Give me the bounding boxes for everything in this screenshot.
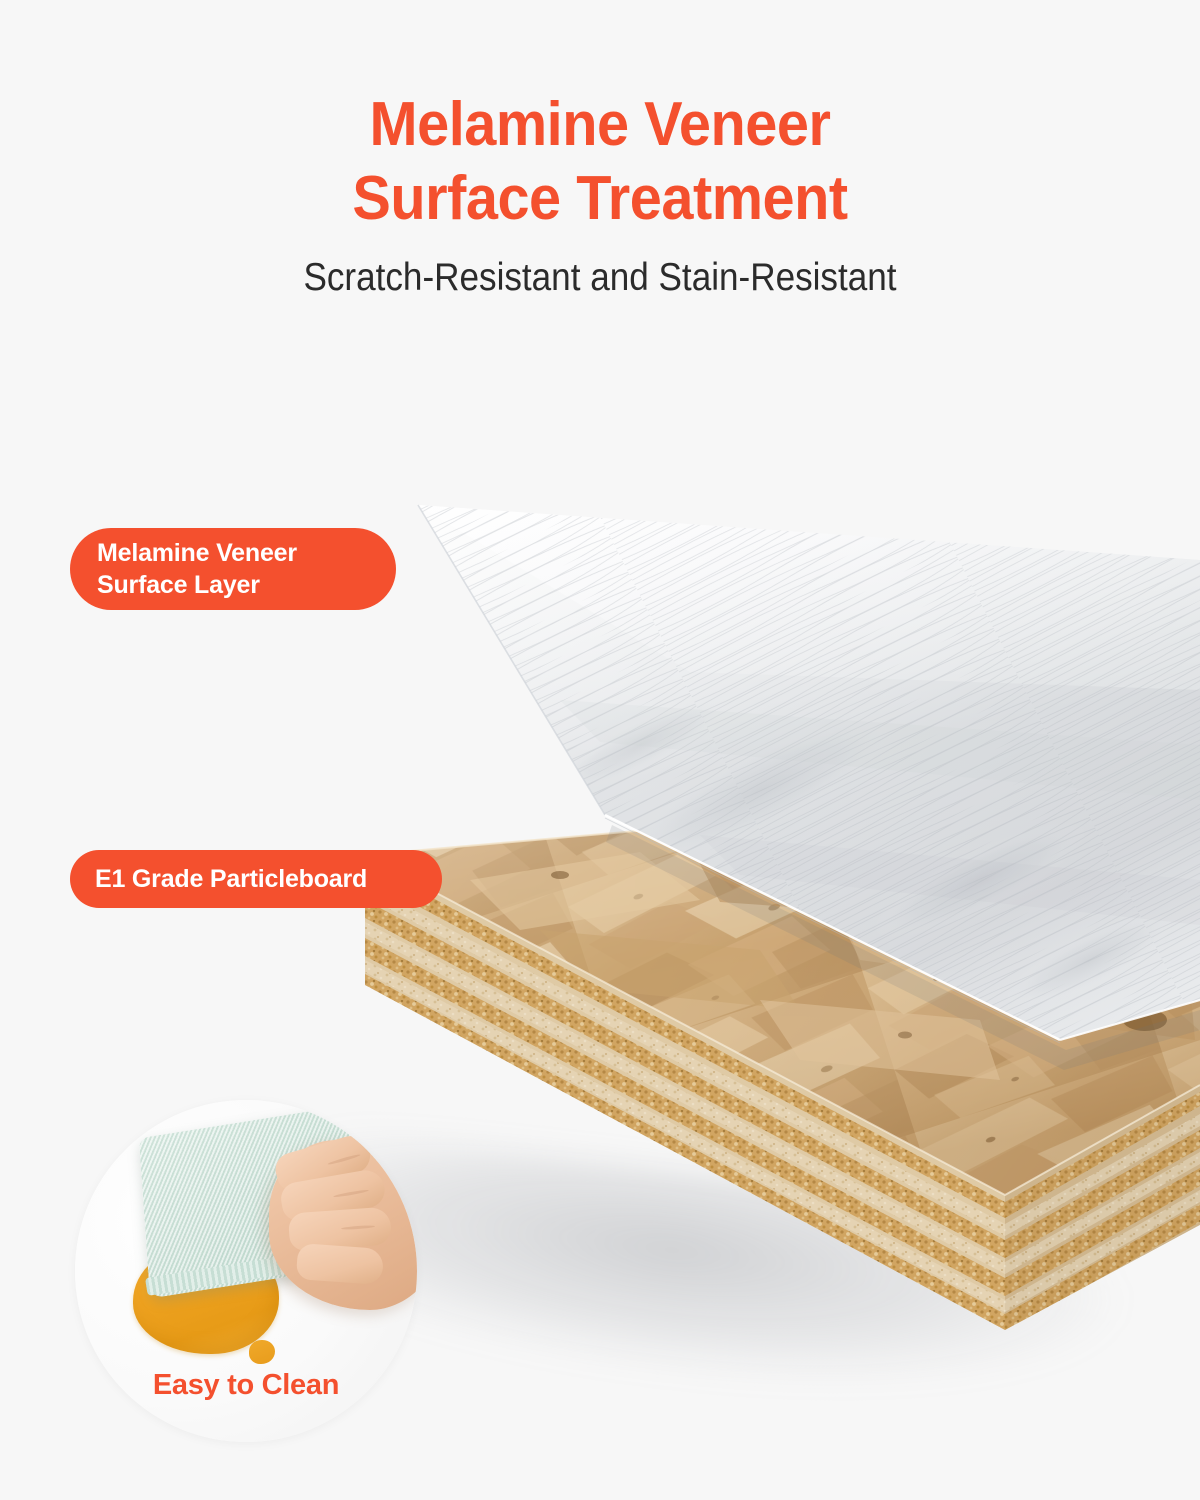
- inset-caption: Easy to Clean: [75, 1369, 417, 1402]
- product-illustration: Melamine Veneer Surface Layer E1 Grade P…: [0, 0, 1200, 1500]
- finger-pinky: [296, 1243, 384, 1285]
- callout-veneer-line-2: Surface Layer: [97, 569, 396, 601]
- callout-e1-grade-particleboard[interactable]: E1 Grade Particleboard: [70, 850, 442, 908]
- callout-veneer-line-1: Melamine Veneer: [97, 537, 396, 569]
- callout-particleboard-label: E1 Grade Particleboard: [95, 850, 442, 908]
- callout-melamine-veneer-surface-layer[interactable]: Melamine Veneer Surface Layer: [70, 528, 396, 610]
- infographic-stage: Melamine Veneer Surface Treatment Scratc…: [0, 0, 1200, 1500]
- easy-to-clean-inset[interactable]: Easy to Clean: [75, 1100, 417, 1442]
- veneer-body: [380, 480, 1200, 1080]
- finger-ring: [288, 1206, 392, 1251]
